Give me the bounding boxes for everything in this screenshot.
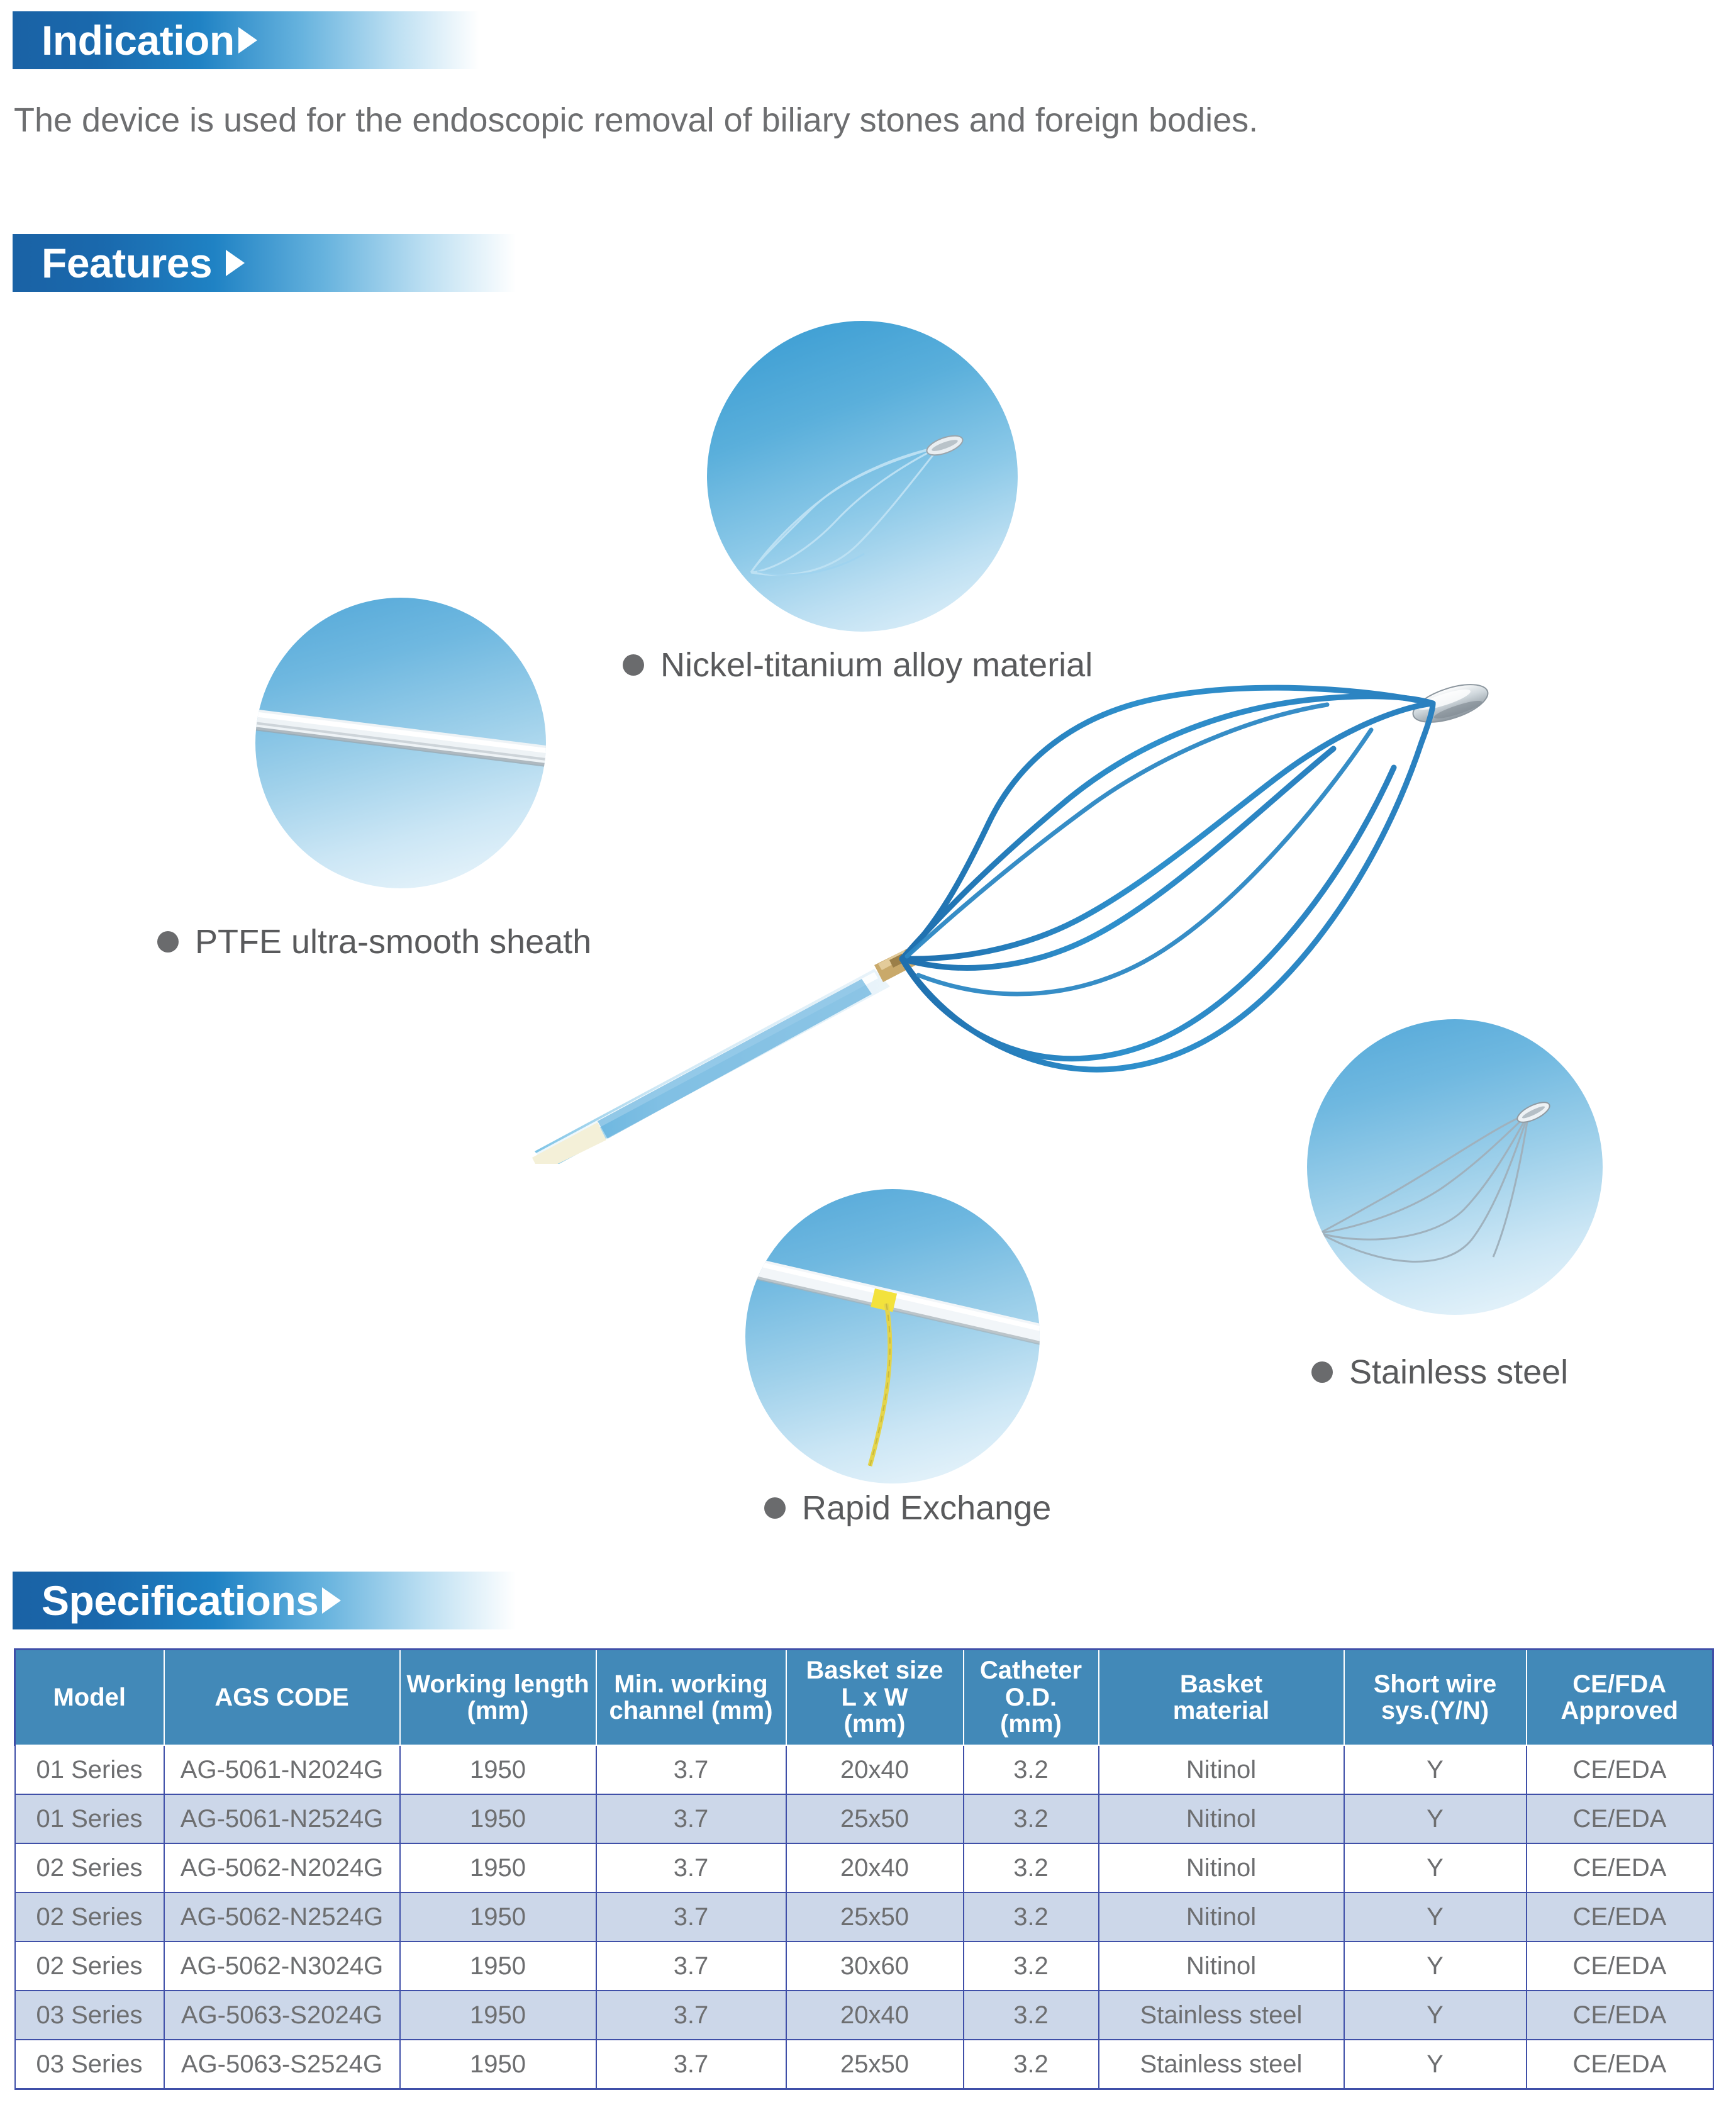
spec-cell-r6-c7: Y [1344, 2040, 1527, 2089]
spec-cell-r2-c2: 1950 [400, 1843, 596, 1892]
table-row: 01 SeriesAG-5061-N2524G19503.725x503.2Ni… [15, 1794, 1713, 1843]
bullet-dot-icon [157, 931, 179, 953]
spec-cell-r0-c2: 1950 [400, 1745, 596, 1794]
spec-cell-r2-c8: CE/EDA [1527, 1843, 1713, 1892]
ptfe-sheath-photo [255, 598, 546, 888]
spec-cell-r6-c2: 1950 [400, 2040, 596, 2089]
spec-cell-r6-c8: CE/EDA [1527, 2040, 1713, 2089]
spec-cell-r3-c1: AG-5062-N2524G [164, 1892, 400, 1942]
bullet-dot-icon [623, 654, 644, 676]
spec-cell-r4-c8: CE/EDA [1527, 1942, 1713, 1991]
sheath-tube [255, 708, 546, 768]
spec-cell-r0-c0: 01 Series [15, 1745, 164, 1794]
spec-cell-r5-c3: 3.7 [596, 1991, 786, 2040]
spec-cell-r0-c3: 3.7 [596, 1745, 786, 1794]
metal-tip-icon [925, 432, 965, 459]
spec-col-header-2-line-1: (mm) [401, 1697, 596, 1724]
triangle-right-icon [238, 27, 257, 53]
spec-cell-r3-c2: 1950 [400, 1892, 596, 1942]
spec-cell-r5-c1: AG-5063-S2024G [164, 1991, 400, 2040]
spec-cell-r6-c1: AG-5063-S2524G [164, 2040, 400, 2089]
spec-cell-r5-c5: 3.2 [964, 1991, 1099, 2040]
spec-col-header-7-line-0: Short wire [1345, 1671, 1526, 1697]
bullet-dot-icon [1311, 1361, 1333, 1383]
spec-cell-r0-c1: AG-5061-N2024G [164, 1745, 400, 1794]
spec-cell-r6-c6: Stainless steel [1099, 2040, 1344, 2089]
spec-cell-r6-c0: 03 Series [15, 2040, 164, 2089]
table-row: 03 SeriesAG-5063-S2524G19503.725x503.2St… [15, 2040, 1713, 2089]
catheter-shaft [532, 969, 890, 1164]
spec-cell-r1-c5: 3.2 [964, 1794, 1099, 1843]
spec-cell-r3-c0: 02 Series [15, 1892, 164, 1942]
spec-cell-r4-c1: AG-5062-N3024G [164, 1942, 400, 1991]
spec-cell-r4-c7: Y [1344, 1942, 1527, 1991]
spec-cell-r5-c2: 1950 [400, 1991, 596, 2040]
features-title-wrap: Features [42, 242, 245, 284]
spec-cell-r5-c0: 03 Series [15, 1991, 164, 2040]
spec-col-header-0: Model [15, 1650, 164, 1746]
spec-cell-r1-c7: Y [1344, 1794, 1527, 1843]
ptfe-sheath-drawing [255, 598, 546, 888]
callout-nickel-titanium-label: Nickel-titanium alloy material [660, 645, 1093, 684]
spec-cell-r1-c8: CE/EDA [1527, 1794, 1713, 1843]
spec-cell-r4-c3: 3.7 [596, 1942, 786, 1991]
indication-body-text: The device is used for the endoscopic re… [14, 99, 1258, 142]
spec-cell-r1-c3: 3.7 [596, 1794, 786, 1843]
indication-title-wrap: Indication [42, 20, 257, 61]
spec-cell-r3-c4: 25x50 [786, 1892, 964, 1942]
bullet-dot-icon [764, 1497, 786, 1519]
callout-stainless-steel: Stainless steel [1311, 1353, 1568, 1392]
basket-wires [902, 688, 1433, 1070]
spec-col-header-7: Short wiresys.(Y/N) [1344, 1650, 1527, 1746]
spec-col-header-5-line-1: O.D. [964, 1684, 1098, 1711]
spec-cell-r6-c5: 3.2 [964, 2040, 1099, 2089]
spec-cell-r0-c7: Y [1344, 1745, 1527, 1794]
spec-col-header-4-line-2: (mm) [787, 1711, 963, 1737]
spec-col-header-7-line-1: sys.(Y/N) [1345, 1697, 1526, 1724]
spec-col-header-5-line-0: Catheter [964, 1657, 1098, 1684]
spec-col-header-3-line-0: Min. working [597, 1671, 786, 1697]
spec-col-header-1: AGS CODE [164, 1650, 400, 1746]
specifications-title-wrap: Specifications [42, 1580, 341, 1621]
spec-cell-r1-c1: AG-5061-N2524G [164, 1794, 400, 1843]
callout-nickel-titanium: Nickel-titanium alloy material [623, 645, 1093, 684]
spec-table-header-row: ModelAGS CODEWorking length(mm)Min. work… [15, 1650, 1713, 1746]
spec-cell-r4-c0: 02 Series [15, 1942, 164, 1991]
spec-col-header-2-line-0: Working length [401, 1671, 596, 1697]
spec-col-header-6-line-0: Basket [1099, 1671, 1344, 1697]
spec-cell-r3-c7: Y [1344, 1892, 1527, 1942]
spec-cell-r5-c7: Y [1344, 1991, 1527, 2040]
spec-cell-r0-c8: CE/EDA [1527, 1745, 1713, 1794]
table-row: 01 SeriesAG-5061-N2024G19503.720x403.2Ni… [15, 1745, 1713, 1794]
spec-table-header: ModelAGS CODEWorking length(mm)Min. work… [15, 1650, 1713, 1746]
spec-col-header-6-line-1: material [1099, 1697, 1344, 1724]
indication-title: Indication [42, 20, 235, 61]
spec-col-header-5: CatheterO.D.(mm) [964, 1650, 1099, 1746]
spec-cell-r0-c6: Nitinol [1099, 1745, 1344, 1794]
triangle-right-icon [322, 1587, 341, 1614]
callout-ptfe-sheath-label: PTFE ultra-smooth sheath [195, 922, 591, 961]
features-section-banner: Features [13, 234, 516, 292]
spec-cell-r3-c3: 3.7 [596, 1892, 786, 1942]
spec-col-header-8-line-1: Approved [1527, 1697, 1713, 1724]
spec-cell-r1-c2: 1950 [400, 1794, 596, 1843]
rapid-exchange-drawing [745, 1189, 1040, 1483]
spec-cell-r3-c8: CE/EDA [1527, 1892, 1713, 1942]
table-row: 03 SeriesAG-5063-S2024G19503.720x403.2St… [15, 1991, 1713, 2040]
spec-col-header-6: Basketmaterial [1099, 1650, 1344, 1746]
spec-cell-r6-c3: 3.7 [596, 2040, 786, 2089]
table-row: 02 SeriesAG-5062-N3024G19503.730x603.2Ni… [15, 1942, 1713, 1991]
callout-rapid-exchange-label: Rapid Exchange [802, 1489, 1051, 1528]
spec-cell-r2-c0: 02 Series [15, 1843, 164, 1892]
basket-device-drawing [522, 654, 1560, 1164]
nitinol-basket-drawing [707, 321, 1018, 632]
spec-col-header-8: CE/FDAApproved [1527, 1650, 1713, 1746]
spec-col-header-4: Basket sizeL x W(mm) [786, 1650, 964, 1746]
spec-cell-r2-c1: AG-5062-N2024G [164, 1843, 400, 1892]
spec-cell-r2-c7: Y [1344, 1843, 1527, 1892]
spec-cell-r0-c5: 3.2 [964, 1745, 1099, 1794]
spec-cell-r2-c5: 3.2 [964, 1843, 1099, 1892]
table-row: 02 SeriesAG-5062-N2024G19503.720x403.2Ni… [15, 1843, 1713, 1892]
callout-ptfe-sheath: PTFE ultra-smooth sheath [157, 922, 591, 961]
specifications-table: ModelAGS CODEWorking length(mm)Min. work… [14, 1648, 1714, 2090]
specifications-title: Specifications [42, 1580, 318, 1621]
spec-cell-r4-c5: 3.2 [964, 1942, 1099, 1991]
spec-col-header-8-line-0: CE/FDA [1527, 1671, 1713, 1697]
spec-cell-r6-c4: 25x50 [786, 2040, 964, 2089]
rapid-exchange-photo [745, 1189, 1040, 1483]
spec-table-body: 01 SeriesAG-5061-N2024G19503.720x403.2Ni… [15, 1745, 1713, 2089]
spec-cell-r3-c5: 3.2 [964, 1892, 1099, 1942]
callout-stainless-steel-label: Stainless steel [1349, 1353, 1568, 1392]
spec-col-header-4-line-0: Basket size [787, 1657, 963, 1684]
spec-cell-r3-c6: Nitinol [1099, 1892, 1344, 1942]
spec-col-header-1-line-0: AGS CODE [165, 1684, 399, 1711]
spec-cell-r2-c6: Nitinol [1099, 1843, 1344, 1892]
spec-col-header-4-line-1: L x W [787, 1684, 963, 1711]
triangle-right-icon [226, 250, 245, 276]
table-row: 02 SeriesAG-5062-N2524G19503.725x503.2Ni… [15, 1892, 1713, 1942]
spec-col-header-0-line-0: Model [16, 1684, 164, 1711]
spec-cell-r5-c8: CE/EDA [1527, 1991, 1713, 2040]
spec-cell-r5-c4: 20x40 [786, 1991, 964, 2040]
indication-section-banner: Indication [13, 11, 479, 69]
spec-col-header-2: Working length(mm) [400, 1650, 596, 1746]
spec-cell-r1-c6: Nitinol [1099, 1794, 1344, 1843]
spec-col-header-3-line-1: channel (mm) [597, 1697, 786, 1724]
biliary-stone-retrieval-basket-illustration [522, 654, 1560, 1164]
spec-cell-r2-c4: 20x40 [786, 1843, 964, 1892]
spec-cell-r1-c4: 25x50 [786, 1794, 964, 1843]
nitinol-basket-photo [707, 321, 1018, 632]
spec-col-header-3: Min. workingchannel (mm) [596, 1650, 786, 1746]
spec-cell-r5-c6: Stainless steel [1099, 1991, 1344, 2040]
spec-cell-r1-c0: 01 Series [15, 1794, 164, 1843]
spec-col-header-5-line-2: (mm) [964, 1711, 1098, 1737]
spec-cell-r2-c3: 3.7 [596, 1843, 786, 1892]
spec-cell-r0-c4: 20x40 [786, 1745, 964, 1794]
specifications-section-banner: Specifications [13, 1572, 516, 1629]
callout-rapid-exchange: Rapid Exchange [764, 1489, 1051, 1528]
spec-cell-r4-c6: Nitinol [1099, 1942, 1344, 1991]
features-title: Features [42, 242, 212, 284]
spec-cell-r4-c2: 1950 [400, 1942, 596, 1991]
spec-cell-r4-c4: 30x60 [786, 1942, 964, 1991]
